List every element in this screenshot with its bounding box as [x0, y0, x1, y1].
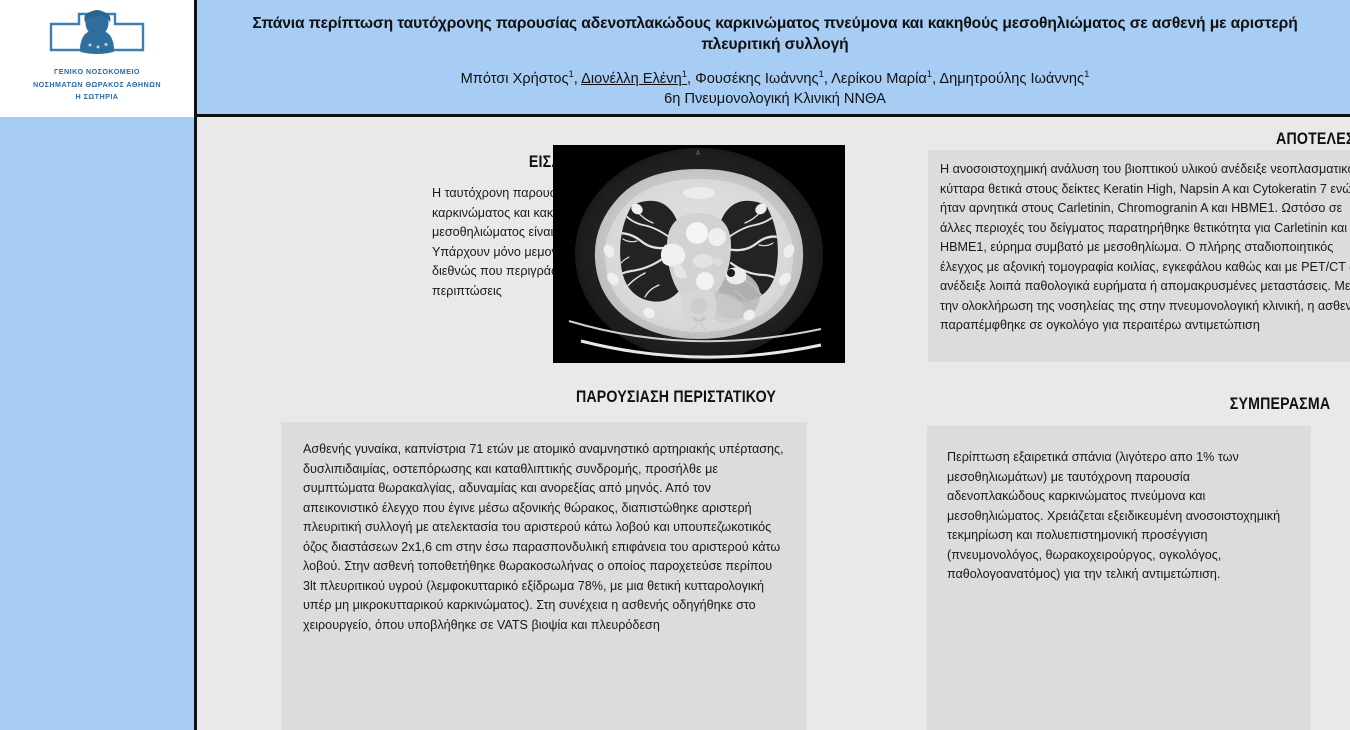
author-affiliation-marker: 1 [682, 69, 687, 80]
hospital-logo-text: ΓΕΝΙΚΟ ΝΟΣΟΚΟΜΕΙΟ ΝΟΣΗΜΑΤΩΝ ΘΩΡΑΚΟΣ ΑΘΗΝ… [33, 66, 161, 104]
section-heading-case-presentation: ΠΑΡΟΥΣΙΑΣΗ ΠΕΡΙΣΤΑΤΙΚΟΥ [504, 388, 848, 407]
footer-note [0, 709, 197, 721]
title-area: Σπάνια περίπτωση ταυτόχρονης παρουσίας α… [200, 0, 1350, 114]
author-name: Διονέλλη Ελένη1 [581, 71, 687, 87]
author-name: Μπότσι Χρήστος [461, 71, 569, 87]
left-sidebar-rail [0, 117, 197, 730]
poster-root: ΓΕΝΙΚΟ ΝΟΣΟΚΟΜΕΙΟ ΝΟΣΗΜΑΤΩΝ ΘΩΡΑΚΟΣ ΑΘΗΝ… [0, 0, 1350, 730]
section-heading-results: ΑΠΟΤΕΛΕΣΜΑΤΑ [1150, 130, 1350, 149]
section-text-conclusion: Περίπτωση εξαιρετικά σπάνια (λιγότερο απ… [947, 448, 1291, 585]
chest-ct-axial-scan: A [553, 145, 845, 363]
author-name: Δημητρούλης Ιωάννης [939, 71, 1084, 87]
author-affiliation-marker: 1 [568, 69, 573, 80]
author-affiliation-marker: 1 [819, 69, 824, 80]
author-affiliation-marker: 1 [927, 69, 932, 80]
section-box-conclusion: Περίπτωση εξαιρετικά σπάνια (λιγότερο απ… [927, 426, 1311, 730]
poster-title: Σπάνια περίπτωση ταυτόχρονης παρουσίας α… [224, 14, 1326, 55]
section-box-case-presentation: Ασθενής γυναίκα, καπνίστρια 71 ετών με α… [281, 422, 807, 730]
author-list: Μπότσι Χρήστος1, Διονέλλη Ελένη1, Φουσέκ… [224, 68, 1326, 89]
author-name: Λερίκου Μαρία [831, 71, 927, 87]
section-text-case-presentation: Ασθενής γυναίκα, καπνίστρια 71 ετών με α… [303, 440, 785, 635]
section-text-results: Η ανοσοιστοχημική ανάλυση του βιοπτικού … [940, 160, 1350, 336]
poster-content: ΕΙΣΑΓΩΓΗ Η ταυτόχρονη παρουσία αδενοπλακ… [200, 120, 1350, 730]
section-heading-conclusion: ΣΥΜΠΕΡΑΣΜΑ [1151, 395, 1350, 414]
author-affiliation-marker: 1 [1084, 69, 1089, 80]
section-box-results: Η ανοσοιστοχημική ανάλυση του βιοπτικού … [928, 150, 1350, 362]
hospital-logo-line-3: Η ΣΩΤΗΡΙΑ [33, 91, 161, 104]
author-name: Φουσέκης Ιωάννης [695, 71, 818, 87]
affiliation: 6η Πνευμονολογική Κλινική ΝΝΘΑ [224, 89, 1326, 109]
hospital-portrait-logo-icon [41, 6, 153, 64]
hospital-logo-box: ΓΕΝΙΚΟ ΝΟΣΟΚΟΜΕΙΟ ΝΟΣΗΜΑΤΩΝ ΘΩΡΑΚΟΣ ΑΘΗΝ… [0, 0, 197, 117]
hospital-logo-line-1: ΓΕΝΙΚΟ ΝΟΣΟΚΟΜΕΙΟ [33, 66, 161, 79]
hospital-logo-line-2: ΝΟΣΗΜΑΤΩΝ ΘΩΡΑΚΟΣ ΑΘΗΝΩΝ [33, 79, 161, 92]
poster-header: ΓΕΝΙΚΟ ΝΟΣΟΚΟΜΕΙΟ ΝΟΣΗΜΑΤΩΝ ΘΩΡΑΚΟΣ ΑΘΗΝ… [0, 0, 1350, 117]
